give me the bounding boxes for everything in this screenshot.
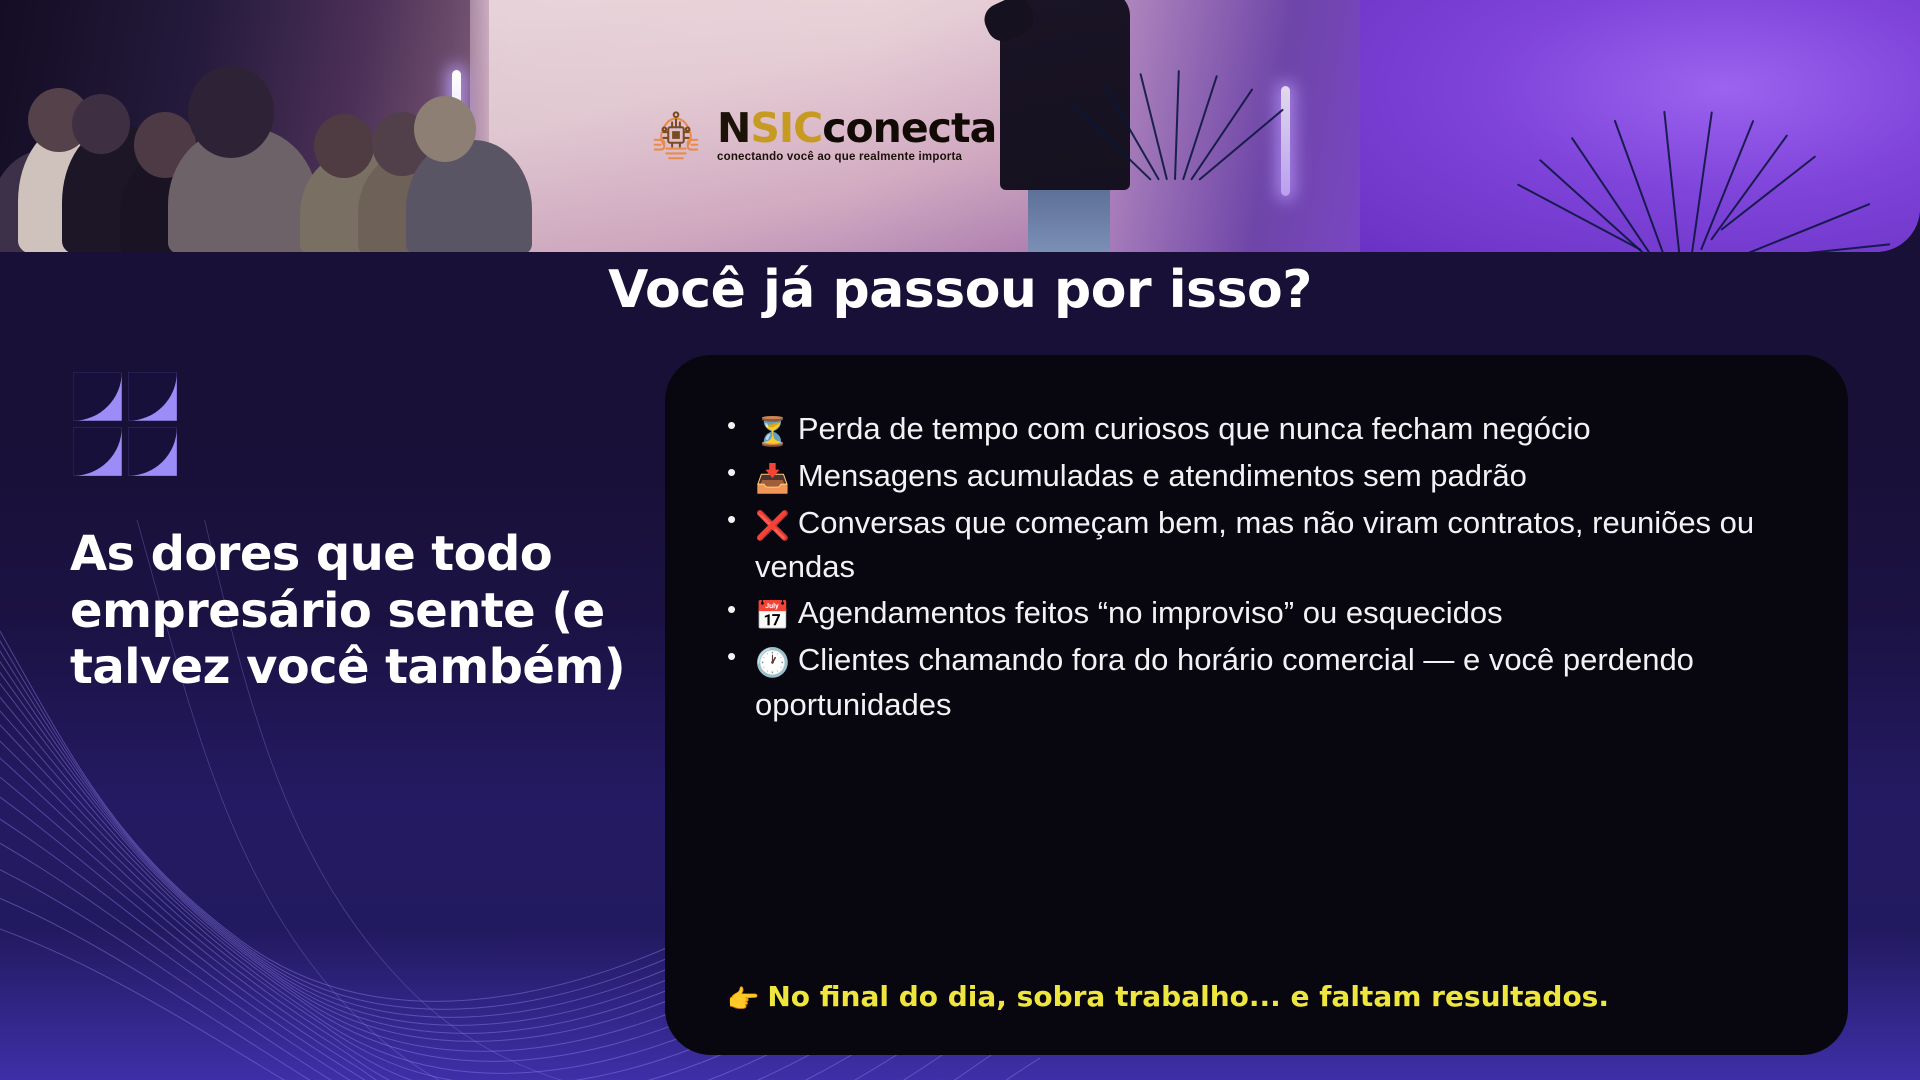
list-item-text: Conversas que começam bem, mas não viram… [755,505,1754,585]
audience-head [314,114,374,178]
logo-n: N [717,104,750,152]
list-item: 🕐Clientes chamando fora do horário comer… [721,638,1792,727]
slide-canvas: NSICconecta conectando você ao que realm… [0,0,1920,1080]
nsic-chip-bulb-logo-icon [645,105,707,167]
logo-conecta: conecta [822,104,996,152]
list-item: ⏳Perda de tempo com curiosos que nunca f… [721,407,1792,452]
cross-mark-icon: ❌ [755,506,790,546]
left-column: As dores que todo empresário sente (e ta… [70,370,660,696]
logo-wordmark: NSICconecta [717,108,996,149]
list-item-text: Perda de tempo com curiosos que nunca fe… [798,411,1591,446]
pain-points-card: ⏳Perda de tempo com curiosos que nunca f… [665,355,1848,1055]
pain-points-list: ⏳Perda de tempo com curiosos que nunca f… [721,407,1792,729]
nsic-logo: NSICconecta conectando você ao que realm… [645,100,1005,172]
neon-strip [1281,86,1290,196]
logo-sic: SIC [750,104,822,152]
hourglass-icon: ⏳ [755,412,790,452]
page-title: Você já passou por isso? [0,260,1920,320]
list-item: 📥Mensagens acumuladas e atendimentos sem… [721,454,1792,499]
list-item-text: Agendamentos feitos “no improviso” ou es… [798,595,1503,630]
inbox-tray-icon: 📥 [755,459,790,499]
list-item: ❌Conversas que começam bem, mas não vira… [721,501,1792,590]
left-heading: As dores que todo empresário sente (e ta… [70,526,660,696]
list-item-text: Clientes chamando fora do horário comerc… [755,642,1694,722]
logo-tagline: conectando você ao que realmente importa [717,152,996,164]
quote-mark-icon [70,370,180,478]
list-item: 📅Agendamentos feitos “no improviso” ou e… [721,591,1792,636]
audience-head [72,94,130,154]
clock-icon: 🕐 [755,643,790,683]
card-footer: 👉No final do dia, sobra trabalho... e fa… [721,980,1792,1015]
hero-photo: NSICconecta conectando você ao que realm… [0,0,1920,252]
hero-purple-glow [1360,0,1920,252]
pointing-right-icon: 👉 [727,985,759,1015]
calendar-icon: 📅 [755,596,790,636]
list-item-text: Mensagens acumuladas e atendimentos sem … [798,458,1527,493]
audience-head [188,66,274,158]
card-footer-text: No final do dia, sobra trabalho... e fal… [767,980,1609,1013]
audience-head [414,96,476,162]
